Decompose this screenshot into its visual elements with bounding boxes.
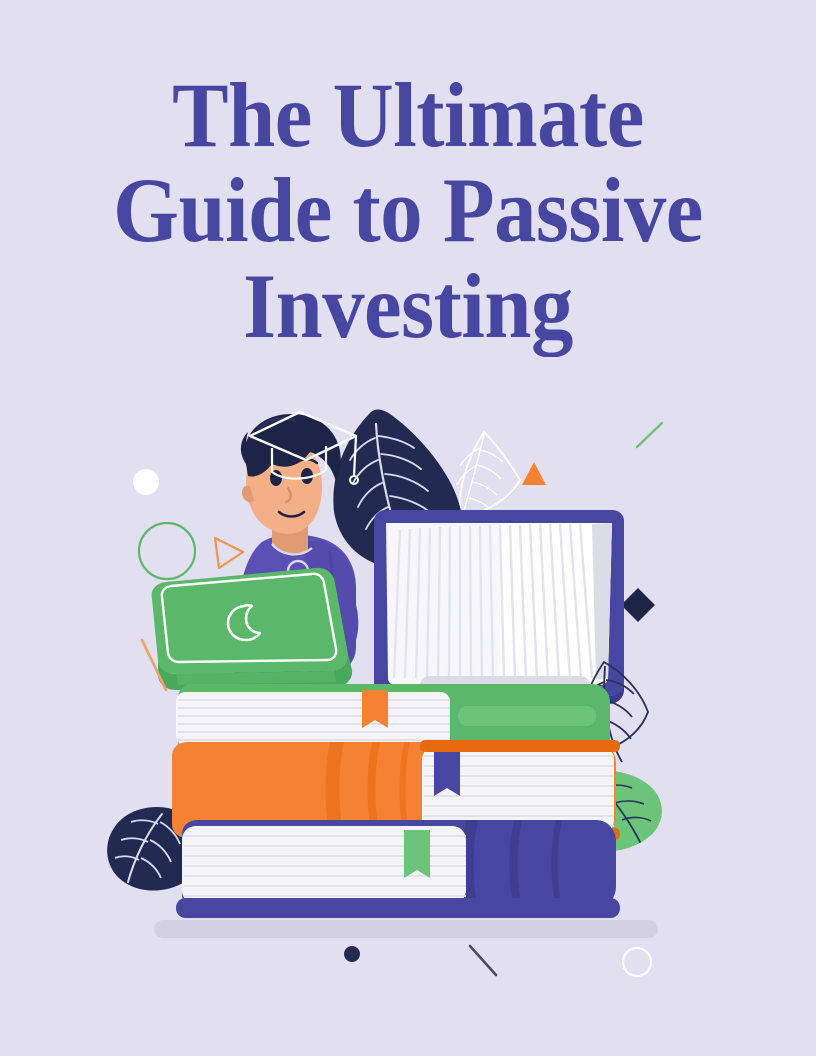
title-line-3: Investing [33,259,784,354]
title-line-1: The Ultimate [33,68,784,163]
green-laptop [152,568,352,690]
cover-illustration [0,390,816,1010]
dot-navy-filled-icon [344,946,360,962]
triangle-orange-filled-icon [522,462,546,485]
book-purple [176,820,620,918]
cover-page: The Ultimate Guide to Passive Investing [0,0,816,1056]
open-book [374,510,624,704]
title-line-2: Guide to Passive [33,163,784,258]
circle-white-outline-visible-icon [623,948,651,976]
leaf-white-outline-top [457,432,520,516]
page-title: The Ultimate Guide to Passive Investing [0,68,816,354]
line-navy-diagonal-icon [470,946,496,975]
line-green-diagonal-icon [637,423,662,447]
diamond-navy-filled-icon [621,588,655,622]
circle-green-outline-icon [139,523,195,579]
dot-white-filled-icon [133,469,159,495]
ground-shadow [154,920,658,938]
triangle-orange-outline-icon [215,538,243,568]
